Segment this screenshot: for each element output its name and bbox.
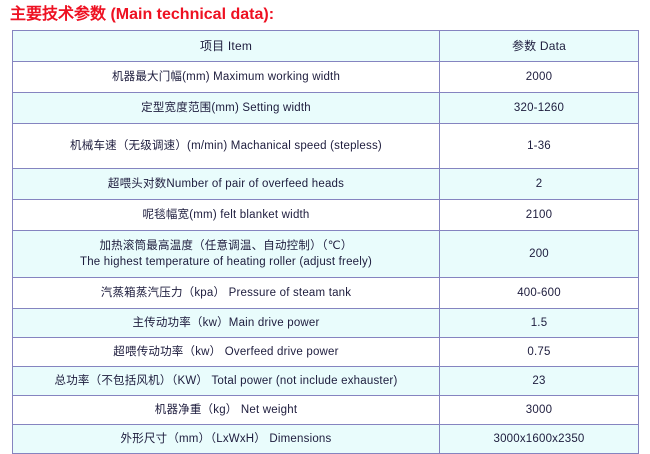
row-item-label: 定型宽度范围(mm) Setting width — [13, 93, 440, 124]
row-item-value: 0.75 — [440, 338, 639, 367]
row-item-value: 3000x1600x2350 — [440, 425, 639, 454]
table-row: 外形尺寸（mm）（LxWxH） Dimensions 3000x1600x235… — [13, 425, 639, 454]
row-item-label: 超喂传动功率（kw） Overfeed drive power — [13, 338, 440, 367]
table-row: 超喂传动功率（kw） Overfeed drive power 0.75 — [13, 338, 639, 367]
table-row: 主传动功率（kw）Main drive power 1.5 — [13, 309, 639, 338]
table-row: 机器净重（kg） Net weight 3000 — [13, 396, 639, 425]
row-item-label: 总功率（不包括风机）（KW） Total power (not include … — [13, 367, 440, 396]
page-title: 主要技术参数 (Main technical data): — [10, 4, 274, 26]
row-item-value: 1-36 — [440, 124, 639, 169]
table-row: 总功率（不包括风机）（KW） Total power (not include … — [13, 367, 639, 396]
row-item-label-en: The highest temperature of heating rolle… — [17, 254, 435, 270]
row-item-label: 汽蒸箱蒸汽压力（kpa） Pressure of steam tank — [13, 278, 440, 309]
row-item-label: 机器净重（kg） Net weight — [13, 396, 440, 425]
row-item-value: 2000 — [440, 62, 639, 93]
row-item-value: 200 — [440, 231, 639, 278]
table-row: 超喂头对数Number of pair of overfeed heads 2 — [13, 169, 639, 200]
row-item-label: 主传动功率（kw）Main drive power — [13, 309, 440, 338]
row-item-label: 机械车速（无级调速）(m/min) Machanical speed (step… — [13, 124, 440, 169]
technical-data-table: 项目 Item 参数 Data 机器最大门幅(mm) Maximum worki… — [12, 30, 639, 454]
table-row: 定型宽度范围(mm) Setting width 320-1260 — [13, 93, 639, 124]
column-header-item: 项目 Item — [13, 31, 440, 62]
row-item-value: 320-1260 — [440, 93, 639, 124]
table-row: 机械车速（无级调速）(m/min) Machanical speed (step… — [13, 124, 639, 169]
technical-data-page: 主要技术参数 (Main technical data): 项目 Item 参数… — [0, 0, 650, 436]
row-item-label: 外形尺寸（mm）（LxWxH） Dimensions — [13, 425, 440, 454]
row-item-value: 2100 — [440, 200, 639, 231]
row-item-label: 加热滚筒最高温度（任意调温、自动控制）（℃） The highest tempe… — [13, 231, 440, 278]
table-row: 汽蒸箱蒸汽压力（kpa） Pressure of steam tank 400-… — [13, 278, 639, 309]
table-row: 加热滚筒最高温度（任意调温、自动控制）（℃） The highest tempe… — [13, 231, 639, 278]
row-item-value: 400-600 — [440, 278, 639, 309]
spec-table-container: 项目 Item 参数 Data 机器最大门幅(mm) Maximum worki… — [12, 30, 638, 454]
row-item-value: 3000 — [440, 396, 639, 425]
row-item-label: 超喂头对数Number of pair of overfeed heads — [13, 169, 440, 200]
row-item-value: 1.5 — [440, 309, 639, 338]
row-item-label: 呢毯幅宽(mm) felt blanket width — [13, 200, 440, 231]
table-header-row: 项目 Item 参数 Data — [13, 31, 639, 62]
row-item-label-cjk: 加热滚筒最高温度（任意调温、自动控制）（℃） — [17, 238, 435, 254]
table-row: 呢毯幅宽(mm) felt blanket width 2100 — [13, 200, 639, 231]
table-row: 机器最大门幅(mm) Maximum working width 2000 — [13, 62, 639, 93]
row-item-label: 机器最大门幅(mm) Maximum working width — [13, 62, 440, 93]
row-item-value: 23 — [440, 367, 639, 396]
row-item-value: 2 — [440, 169, 639, 200]
column-header-data: 参数 Data — [440, 31, 639, 62]
